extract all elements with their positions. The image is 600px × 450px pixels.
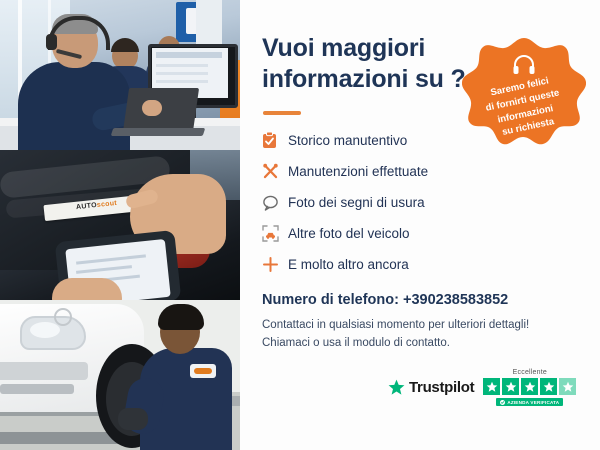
trustpilot-rating[interactable]: Trustpilot Eccellente AZIENDA VERIFICA [388,369,576,406]
clipboard-check-icon [262,132,288,149]
screen-line [156,64,208,67]
star-filled [483,378,500,395]
star-filled [540,378,557,395]
photo-column: AUTOscout [0,0,240,450]
heading-line-1: Vuoi maggiori [262,33,482,64]
phone-number[interactable]: +390238583852 [403,292,508,308]
phone-subtext-line-2: Chiamaci o usa il modulo di contatto. [262,335,562,353]
phone-subtext: Contattaci in qualsiasi momento per ulte… [262,317,562,353]
list-item-label: Storico manutentivo [288,133,407,148]
technician-hand-holding-tablet [52,278,122,300]
plus-icon [262,256,288,273]
screen-toolbar [156,52,222,58]
trustpilot-star-icon [388,379,405,396]
star-filled [521,378,538,395]
trustpilot-stars [483,378,576,395]
list-item-label: E molto altro ancora [288,257,409,272]
list-item: Manutenzioni effettuate [262,159,512,184]
verified-company-badge: AZIENDA VERIFICATA [496,398,563,406]
title-accent-bar [263,111,301,115]
list-item: Storico manutentivo [262,128,512,153]
screen-line [156,80,208,83]
car-grille [0,362,88,380]
phone-title: Numero di telefono: +390238583852 [262,292,562,308]
call-center-agent-photo [0,0,240,150]
list-item-label: Foto dei segni di usura [288,195,425,210]
info-panel: Vuoi maggiori informazioni su ? Saremo f… [240,0,600,450]
car-emblem [54,308,72,326]
trustpilot-logo: Trustpilot [388,379,474,396]
list-item-label: Manutenzioni effettuate [288,164,428,179]
list-item: Altre foto del veicolo [262,221,512,246]
list-item: E molto altro ancora [262,252,512,277]
phone-subtext-line-1: Contattaci in qualsiasi momento per ulte… [262,317,562,335]
agent-hand [142,100,162,116]
trustpilot-rating-label: Eccellente [513,369,547,376]
laptop-base [111,128,206,136]
phone-block: Numero di telefono: +390238583852 Contat… [262,292,562,353]
verified-label: AZIENDA VERIFICATA [507,400,559,405]
sticker-on-car-photo: AUTOscout [0,150,240,300]
promo-card: AUTOscout [0,0,600,450]
screen-line [156,72,208,75]
colleague-hair [111,38,139,52]
trustpilot-score: Eccellente AZIENDA VERIFICATA [483,369,576,406]
trustpilot-wordmark: Trustpilot [409,379,474,396]
list-item: Foto dei segni di usura [262,190,512,215]
headset-earcup [46,34,57,50]
headset-icon [512,54,536,76]
mechanic-hair [158,304,204,330]
heading-line-2: informazioni su ? [262,64,482,95]
tools-cross-icon [262,163,288,180]
phone-label: Numero di telefono: [262,292,403,308]
list-item-label: Altre foto del veicolo [288,226,410,241]
speech-bubble-icon [262,195,288,211]
scan-car-icon [262,225,288,242]
mechanic-wheel-photo [0,300,240,450]
car-lower-grille [0,384,74,394]
check-circle-icon [500,400,505,405]
headlight-lens [30,322,60,338]
star-filled [502,378,519,395]
page-title: Vuoi maggiori informazioni su ? [262,33,482,94]
car-lift-base [0,432,120,444]
star-partial [559,378,576,395]
uniform-logo [190,364,216,378]
feature-list: Storico manutentivo Manutenzioni effettu… [262,128,512,283]
mechanic-glove [118,408,148,430]
